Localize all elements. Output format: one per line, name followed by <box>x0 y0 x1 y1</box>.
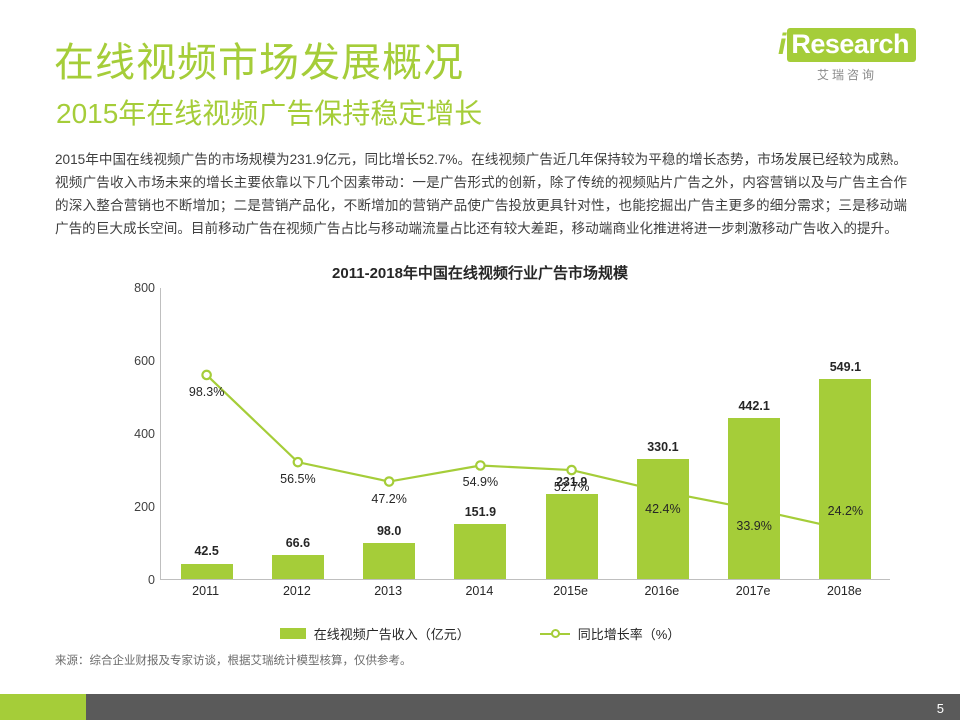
growth-value-label: 33.9% <box>709 519 799 533</box>
y-axis-tick: 800 <box>134 281 155 295</box>
growth-value-label: 47.2% <box>344 492 434 506</box>
bar <box>819 379 871 579</box>
x-axis-tick: 2012 <box>252 584 342 598</box>
bar <box>454 524 506 579</box>
growth-value-label: 42.4% <box>618 502 708 516</box>
legend-bar-swatch <box>280 628 306 639</box>
bar-value-label: 442.1 <box>709 399 799 413</box>
bar <box>728 418 780 579</box>
x-axis-tick: 2016e <box>617 584 707 598</box>
x-axis-tick: 2015e <box>526 584 616 598</box>
growth-value-label: 98.3% <box>162 385 252 399</box>
source-note: 来源：综合企业财报及专家访谈，根据艾瑞统计模型核算，仅供参考。 <box>55 652 412 668</box>
growth-value-label: 24.2% <box>800 504 890 518</box>
growth-value-label: 56.5% <box>253 472 343 486</box>
footer-accent-block <box>0 694 86 720</box>
plot-area: 020040060080042.566.698.0151.9231.9330.1… <box>160 288 890 580</box>
legend-item-line: 同比增长率（%） <box>540 624 681 643</box>
logo-wordmark: i Research <box>782 26 912 64</box>
x-axis-labels: 20112012201320142015e2016e2017e2018e <box>160 584 890 606</box>
bar-value-label: 42.5 <box>162 544 252 558</box>
footer-bar: 5 <box>0 694 960 720</box>
y-axis-tick: 600 <box>134 354 155 368</box>
legend-line-label: 同比增长率（%） <box>578 624 681 643</box>
x-axis-tick: 2014 <box>434 584 524 598</box>
footer-dark-block <box>86 694 960 720</box>
chart: 020040060080042.566.698.0151.9231.9330.1… <box>100 288 890 598</box>
iresearch-logo: i Research 艾瑞咨询 <box>782 26 912 86</box>
growth-line-marker <box>567 466 575 474</box>
legend-line-swatch <box>540 628 570 639</box>
bar-value-label: 330.1 <box>618 440 708 454</box>
logo-chinese-text: 艾瑞咨询 <box>782 66 912 83</box>
page-subtitle: 2015年在线视频广告保持稳定增长 <box>56 92 482 132</box>
chart-legend: 在线视频广告收入（亿元） 同比增长率（%） <box>0 624 960 643</box>
growth-line-marker <box>202 371 210 379</box>
y-axis-tick: 200 <box>134 500 155 514</box>
x-axis-tick: 2013 <box>343 584 433 598</box>
logo-i-letter: i <box>778 30 786 60</box>
bar <box>272 555 324 579</box>
bar <box>546 494 598 579</box>
bar-value-label: 66.6 <box>253 536 343 550</box>
legend-item-bar: 在线视频广告收入（亿元） <box>280 624 470 643</box>
x-axis-tick: 2017e <box>708 584 798 598</box>
bar <box>181 564 233 580</box>
growth-line-marker <box>385 477 393 485</box>
growth-value-label: 54.9% <box>435 475 525 489</box>
page-title: 在线视频市场发展概况 <box>54 30 464 88</box>
bar-value-label: 98.0 <box>344 524 434 538</box>
chart-title: 2011-2018年中国在线视频行业广告市场规模 <box>0 262 960 283</box>
y-axis-tick: 0 <box>148 573 155 587</box>
growth-value-label: 52.7% <box>527 480 617 494</box>
legend-bar-label: 在线视频广告收入（亿元） <box>314 624 470 643</box>
x-axis-tick: 2011 <box>161 584 251 598</box>
growth-line-marker <box>476 461 484 469</box>
page-number: 5 <box>937 701 944 716</box>
x-axis-tick: 2018e <box>799 584 889 598</box>
logo-research-text: Research <box>787 28 916 62</box>
bar-value-label: 151.9 <box>435 505 525 519</box>
bar <box>637 459 689 579</box>
body-paragraph: 2015年中国在线视频广告的市场规模为231.9亿元，同比增长52.7%。在线视… <box>55 148 907 240</box>
growth-line-marker <box>294 458 302 466</box>
bar <box>363 543 415 579</box>
bar-value-label: 549.1 <box>800 360 890 374</box>
slide: 在线视频市场发展概况 2015年在线视频广告保持稳定增长 i Research … <box>0 0 960 720</box>
y-axis-tick: 400 <box>134 427 155 441</box>
